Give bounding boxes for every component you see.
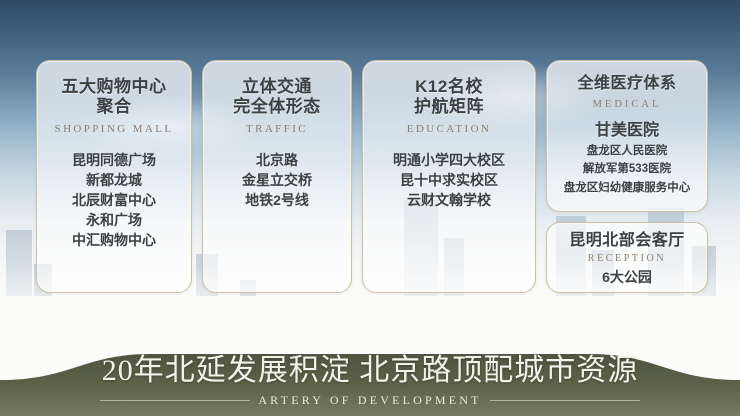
card-title: 全维医疗体系 xyxy=(553,75,701,94)
info-card-medical[interactable]: 全维医疗体系 MEDICAL 甘美医院 盘龙区人民医院 解放军第533医院 盘龙… xyxy=(546,60,708,212)
poster-canvas: 五大购物中心 聚合 SHOPPING MALL 昆明同德广场 新都龙城 北辰财富… xyxy=(0,0,740,416)
bottom-banner: 20年北延发展积淀 北京路顶配城市资源 ARTERY OF DEVELOPMEN… xyxy=(0,350,740,416)
card-line: 新都龙城 xyxy=(45,171,183,191)
card-subtitle: TRAFFIC xyxy=(211,123,343,135)
card-line: 永和广场 xyxy=(45,211,183,231)
card-body: 甘美医院 盘龙区人民医院 解放军第533医院 盘龙区妇幼健康服务中心 xyxy=(553,119,701,198)
card-line: 昆十中求实校区 xyxy=(369,171,529,191)
card-line: 北京路 xyxy=(211,151,343,171)
card-line: 北辰财富中心 xyxy=(45,191,183,211)
card-line: 盘龙区人民医院 xyxy=(553,142,701,161)
banner-rule-right xyxy=(490,400,640,401)
info-card-education[interactable]: K12名校 护航矩阵 EDUCATION 明通小学四大校区 昆十中求实校区 云财… xyxy=(362,60,536,293)
card-body: 昆明同德广场 新都龙城 北辰财富中心 永和广场 中汇购物中心 xyxy=(45,151,183,250)
card-title: K12名校 护航矩阵 xyxy=(369,77,529,116)
card-line: 解放军第533医院 xyxy=(553,160,701,179)
card-body: 北京路 金星立交桥 地铁2号线 xyxy=(211,151,343,211)
banner-title: 20年北延发展积淀 北京路顶配城市资源 xyxy=(102,356,639,386)
card-line: 地铁2号线 xyxy=(211,191,343,211)
card-title: 立体交通 完全体形态 xyxy=(211,77,343,116)
card-line: 金星立交桥 xyxy=(211,171,343,191)
card-subtitle: EDUCATION xyxy=(369,123,529,135)
info-card-traffic[interactable]: 立体交通 完全体形态 TRAFFIC 北京路 金星立交桥 地铁2号线 xyxy=(202,60,352,293)
banner-subtitle: ARTERY OF DEVELOPMENT xyxy=(258,393,481,408)
card-line: 6大公园 xyxy=(553,268,701,288)
card-body: 6大公园 xyxy=(553,268,701,288)
banner-rule-left xyxy=(100,400,250,401)
card-subtitle: RECEPTION xyxy=(553,253,701,264)
card-subtitle: SHOPPING MALL xyxy=(45,123,183,135)
card-lead-line: 甘美医院 xyxy=(553,119,701,142)
card-subtitle: MEDICAL xyxy=(553,99,701,110)
card-line: 明通小学四大校区 xyxy=(369,151,529,171)
card-body: 明通小学四大校区 昆十中求实校区 云财文翰学校 xyxy=(369,151,529,211)
card-line: 昆明同德广场 xyxy=(45,151,183,171)
info-card-shopping-mall[interactable]: 五大购物中心 聚合 SHOPPING MALL 昆明同德广场 新都龙城 北辰财富… xyxy=(36,60,192,293)
card-title: 五大购物中心 聚合 xyxy=(45,77,183,116)
banner-content: 20年北延发展积淀 北京路顶配城市资源 ARTERY OF DEVELOPMEN… xyxy=(0,350,740,416)
card-line: 云财文翰学校 xyxy=(369,191,529,211)
banner-subtitle-row: ARTERY OF DEVELOPMENT xyxy=(100,393,640,408)
card-line: 中汇购物中心 xyxy=(45,231,183,251)
card-line: 盘龙区妇幼健康服务中心 xyxy=(553,179,701,198)
card-title: 昆明北部会客厅 xyxy=(553,232,701,251)
info-card-reception[interactable]: 昆明北部会客厅 RECEPTION 6大公园 xyxy=(546,222,708,293)
